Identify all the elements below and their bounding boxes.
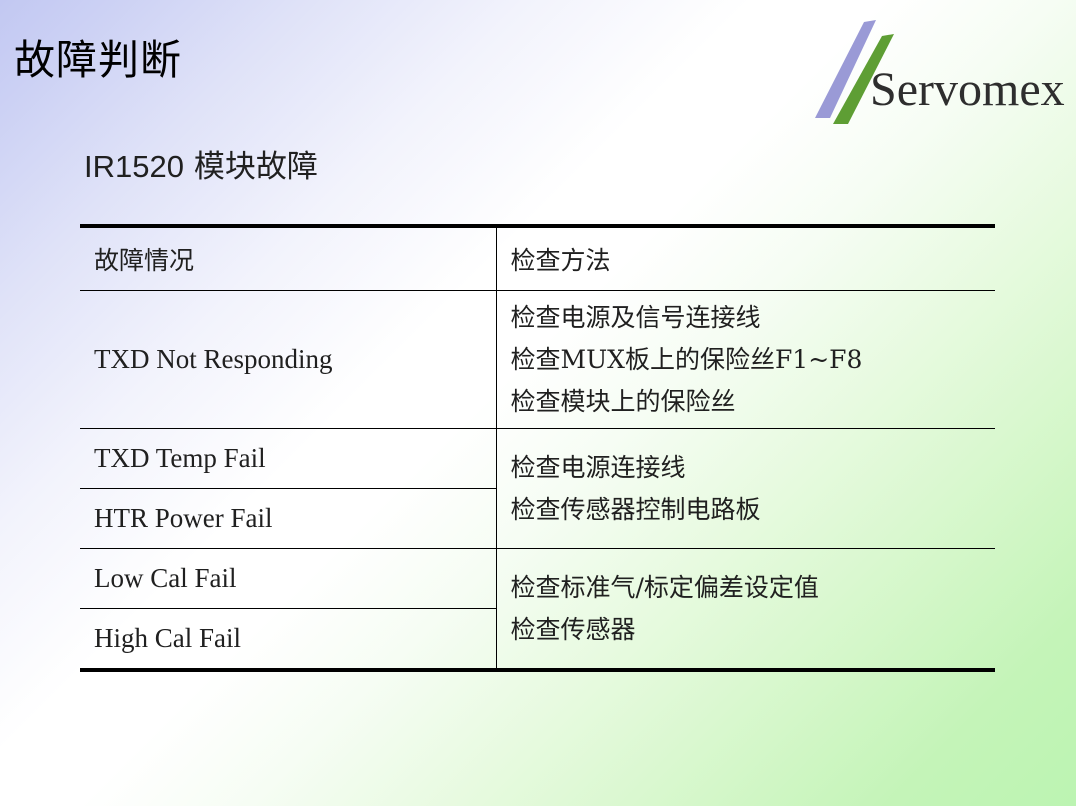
- action-line: 检查电源连接线: [511, 447, 996, 489]
- symptom-cell: TXD Temp Fail: [80, 429, 496, 489]
- servomex-logo: Servomex: [808, 14, 1070, 126]
- table-row: Low Cal Fail 检查标准气/标定偏差设定值 检查传感器: [80, 549, 995, 609]
- action-line: 检查标准气/标定偏差设定值: [511, 567, 996, 609]
- action-line: 检查模块上的保险丝: [511, 381, 996, 423]
- action-cell: 检查电源连接线 检查传感器控制电路板: [496, 429, 995, 549]
- symptom-cell: Low Cal Fail: [80, 549, 496, 609]
- subtitle-model: IR1520: [84, 149, 184, 184]
- subtitle-text: 模块故障: [184, 149, 318, 185]
- symptom-cell: High Cal Fail: [80, 609, 496, 671]
- column-header-action: 检查方法: [496, 226, 995, 291]
- slide-canvas: 故障判断 Servomex IR1520 模块故障 故障情况 检查方法 TXD …: [0, 0, 1076, 806]
- table-row: TXD Temp Fail 检查电源连接线 检查传感器控制电路板: [80, 429, 995, 489]
- logo-wordmark: Servomex: [870, 66, 1065, 114]
- action-cell: 检查电源及信号连接线 检查MUX板上的保险丝F1~F8 检查模块上的保险丝: [496, 291, 995, 429]
- action-line: 检查电源及信号连接线: [511, 297, 996, 339]
- symptom-cell: TXD Not Responding: [80, 291, 496, 429]
- action-line: 检查传感器控制电路板: [511, 489, 996, 531]
- action-cell: 检查标准气/标定偏差设定值 检查传感器: [496, 549, 995, 671]
- table-header-row: 故障情况 检查方法: [80, 226, 995, 291]
- fault-diagnosis-table: 故障情况 检查方法 TXD Not Responding 检查电源及信号连接线 …: [80, 224, 995, 672]
- table-row: TXD Not Responding 检查电源及信号连接线 检查MUX板上的保险…: [80, 291, 995, 429]
- section-subtitle: IR1520 模块故障: [84, 148, 318, 187]
- action-line: 检查MUX板上的保险丝F1~F8: [511, 339, 996, 381]
- symptom-cell: HTR Power Fail: [80, 489, 496, 549]
- column-header-symptom: 故障情况: [80, 226, 496, 291]
- page-title: 故障判断: [14, 35, 182, 86]
- action-line: 检查传感器: [511, 609, 996, 651]
